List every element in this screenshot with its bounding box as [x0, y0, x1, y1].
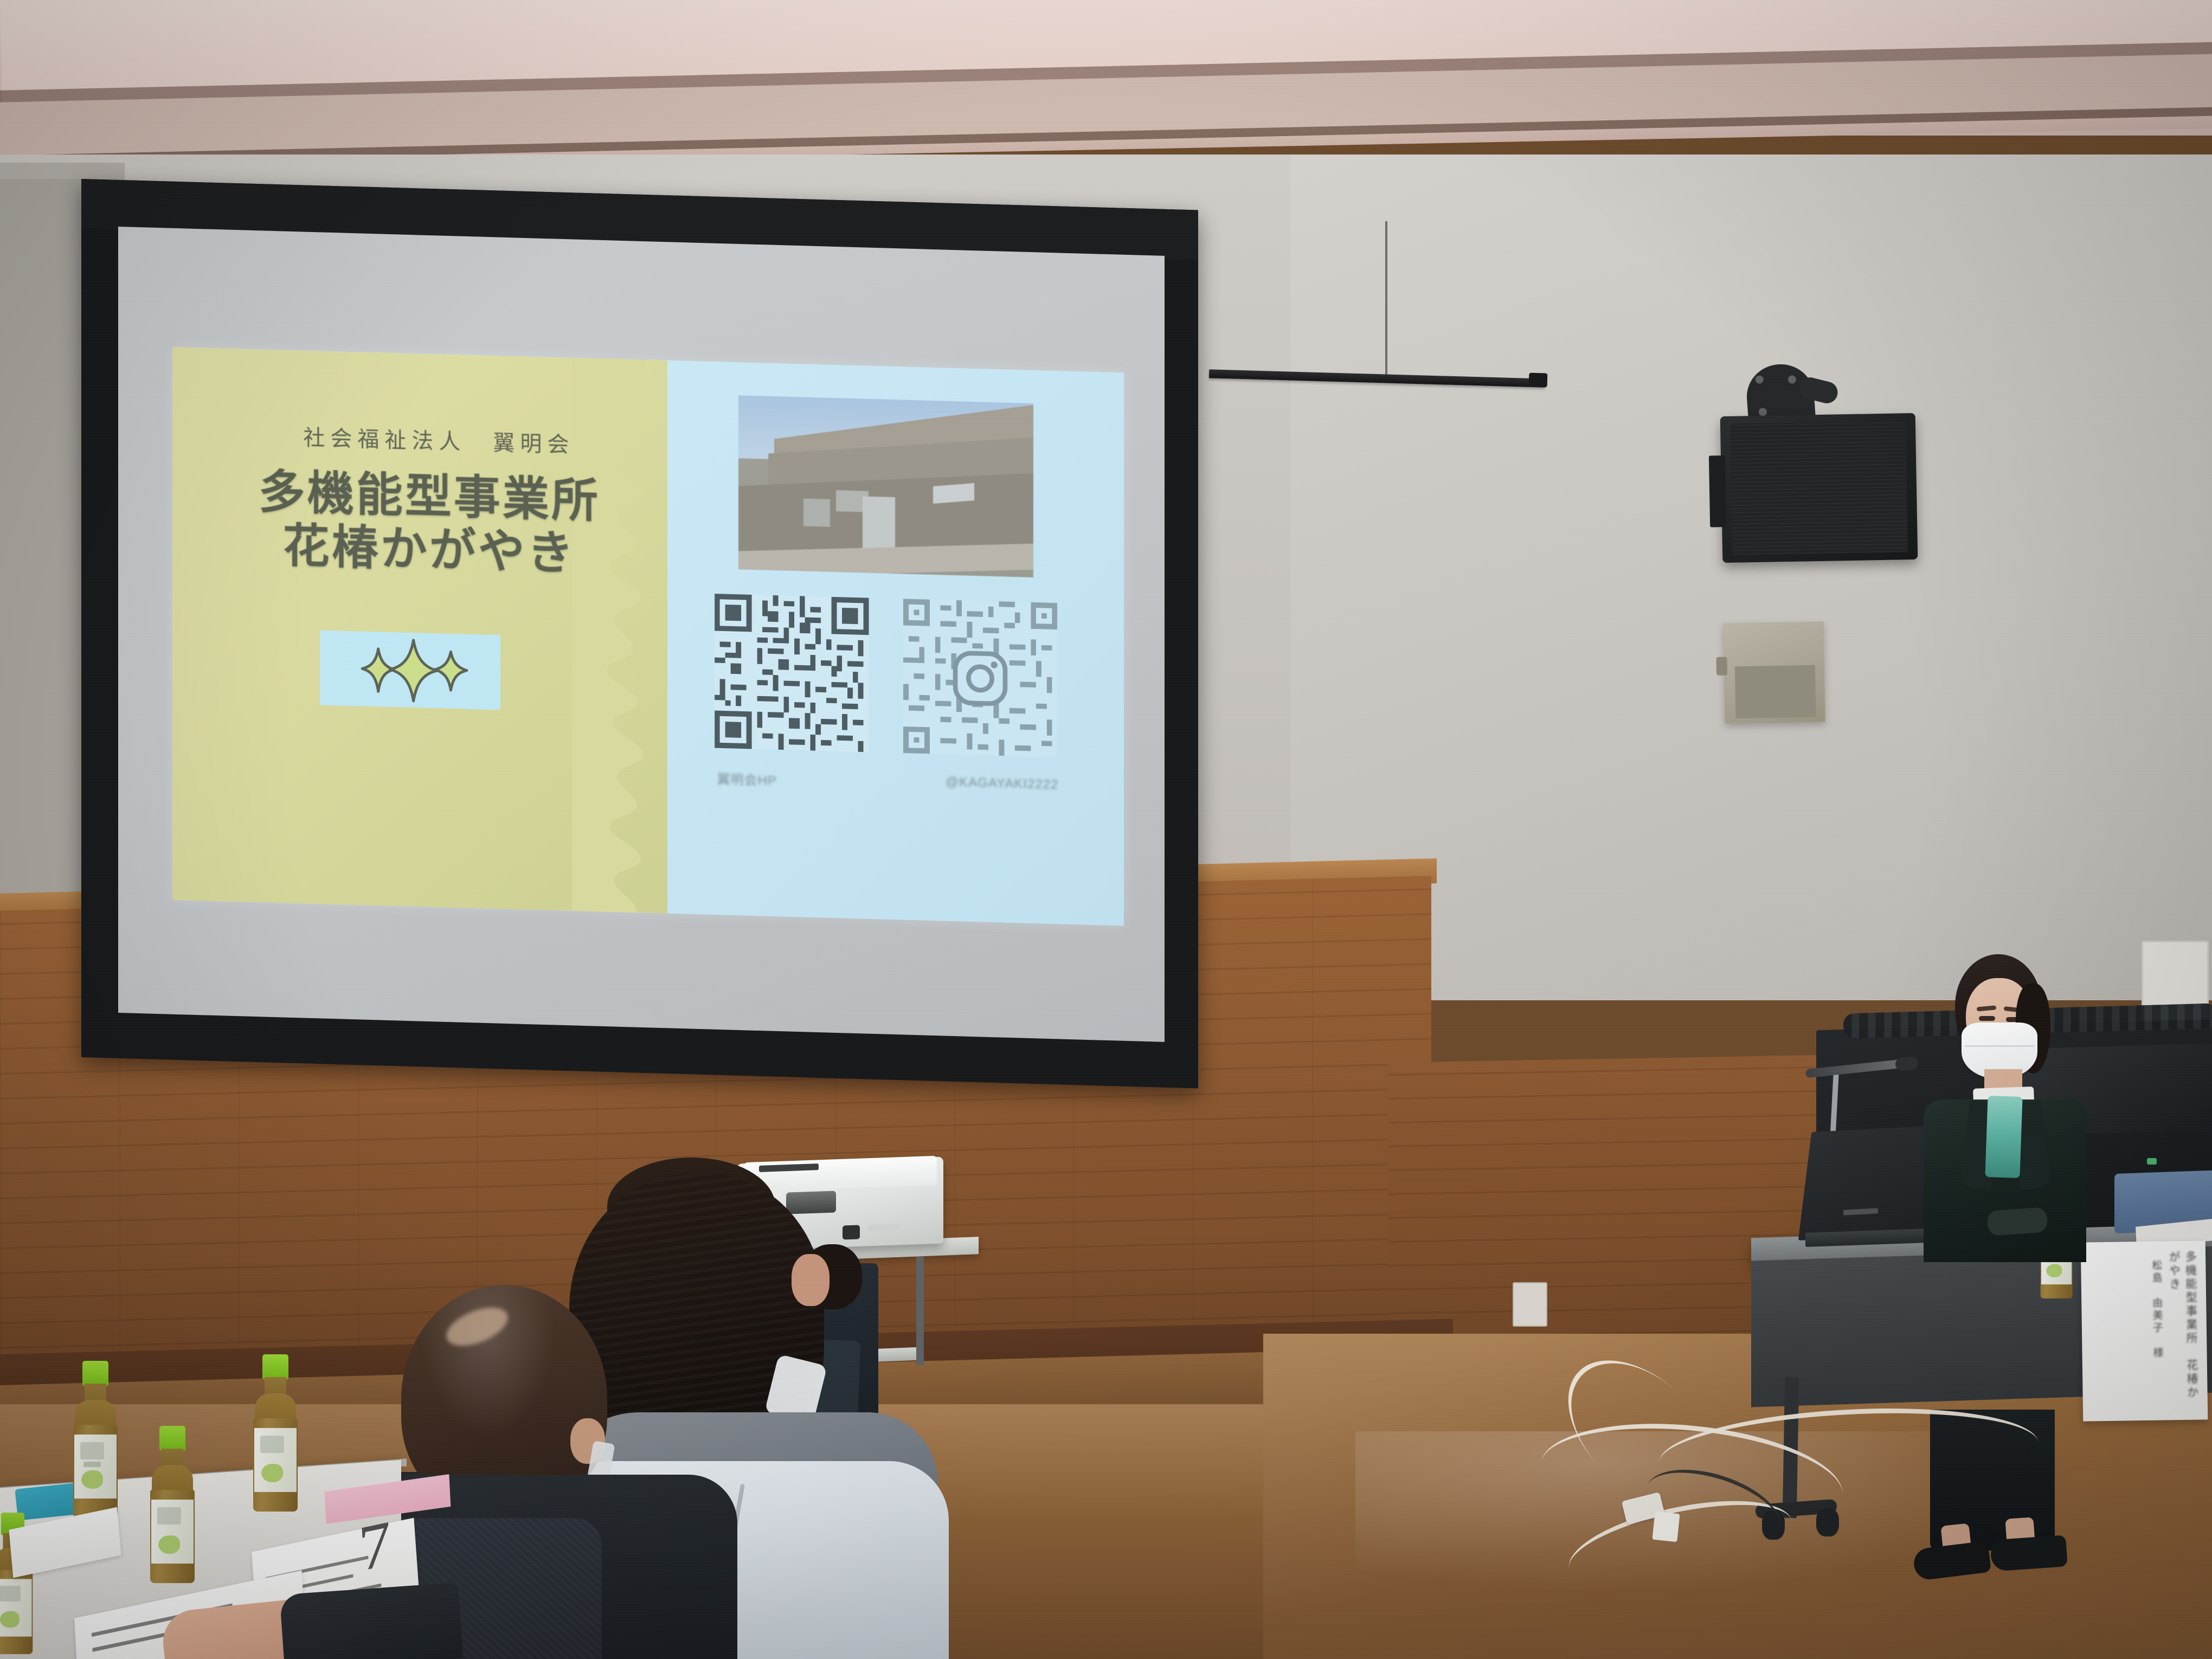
- bottle-label-leaf: [0, 1611, 20, 1628]
- wall-control-box[interactable]: [1723, 621, 1825, 723]
- sparkles-logo: [320, 630, 500, 710]
- presenter-eye: [1979, 1016, 1995, 1021]
- green-tea-bottle: [147, 1426, 197, 1583]
- wall-box-panel: [1735, 665, 1816, 719]
- bottle-label-mark: [0, 1586, 21, 1602]
- handout-page-number: 7: [356, 1506, 394, 1586]
- slide-facility-photo: [738, 395, 1033, 577]
- photo-window-left: [803, 498, 830, 527]
- presenter-arm: [1987, 1207, 2048, 1236]
- bottle-cap: [262, 1354, 288, 1379]
- face-mask-fold: [1965, 1045, 2034, 1047]
- attendee-sleeve: [280, 1583, 464, 1659]
- placard-line-1: 多機能型事業所 花椿かがやき: [2165, 1251, 2200, 1409]
- photo-window-right: [933, 483, 974, 504]
- bottle-label-mark: [83, 1462, 101, 1467]
- ceiling-rail-wire: [1385, 221, 1387, 378]
- green-tea-bottle: [70, 1361, 120, 1518]
- photo-entrance-door: [863, 497, 895, 555]
- bottle-cap: [82, 1361, 108, 1386]
- website-qr-caption: 翼明会HP: [717, 768, 777, 789]
- speaker-bolt: [1758, 408, 1767, 416]
- av-status-led: [2147, 1158, 2157, 1165]
- photo-scene: 社会福祉法人 翼明会 多機能型事業所 花椿かがやき: [0, 0, 2212, 1659]
- bottle-label-leaf: [261, 1464, 283, 1482]
- instagram-qr-caption: @KAGAYAKI2222: [946, 774, 1059, 796]
- bottle-label-mark: [80, 1442, 104, 1459]
- wall-outlet[interactable]: [1513, 1282, 1547, 1327]
- presenter-scarf: [1985, 1096, 2022, 1178]
- website-qr-code: [715, 594, 869, 752]
- projected-slide: 社会福祉法人 翼明会 多機能型事業所 花椿かがやき: [172, 347, 1124, 925]
- speaker-side-tab: [1709, 455, 1726, 528]
- speaker-bolt: [1755, 375, 1764, 384]
- speaker-bolt: [1787, 375, 1796, 384]
- wall-box-knob[interactable]: [1716, 657, 1727, 676]
- wall-speaker: [1720, 413, 1918, 563]
- instagram-qr-code: [903, 599, 1057, 757]
- name-placard: 多機能型事業所 花椿かがやき 松島 由美子 様: [2081, 1240, 2208, 1421]
- ceiling-rail-end-cap: [1529, 373, 1548, 388]
- presenter-shoe: [1990, 1535, 2068, 1572]
- bottle-label-leaf: [2046, 1264, 2062, 1277]
- left-wall-shadow: [0, 179, 92, 911]
- power-plug-adapter: [1652, 1512, 1680, 1542]
- bottle-label-mark: [260, 1436, 284, 1453]
- instagram-icon: [951, 648, 1009, 708]
- bottle-label-leaf: [81, 1470, 103, 1489]
- speaker-grille: [1730, 421, 1908, 555]
- placard-line-2: 松島 由美子 様: [2149, 1259, 2165, 1417]
- bottle-label-mark: [157, 1507, 181, 1525]
- projection-screen: 社会福祉法人 翼明会 多機能型事業所 花椿かがやき: [81, 179, 1236, 1073]
- green-tea-bottle: [250, 1354, 300, 1512]
- qr-code-row: [715, 594, 1057, 774]
- seated-presenter: [1908, 954, 2087, 1258]
- bottle-label-leaf: [158, 1535, 180, 1554]
- bottle-cap: [159, 1426, 185, 1451]
- slide-title: 多機能型事業所 花椿かがやき: [196, 464, 663, 582]
- attendee-ear: [792, 1254, 829, 1306]
